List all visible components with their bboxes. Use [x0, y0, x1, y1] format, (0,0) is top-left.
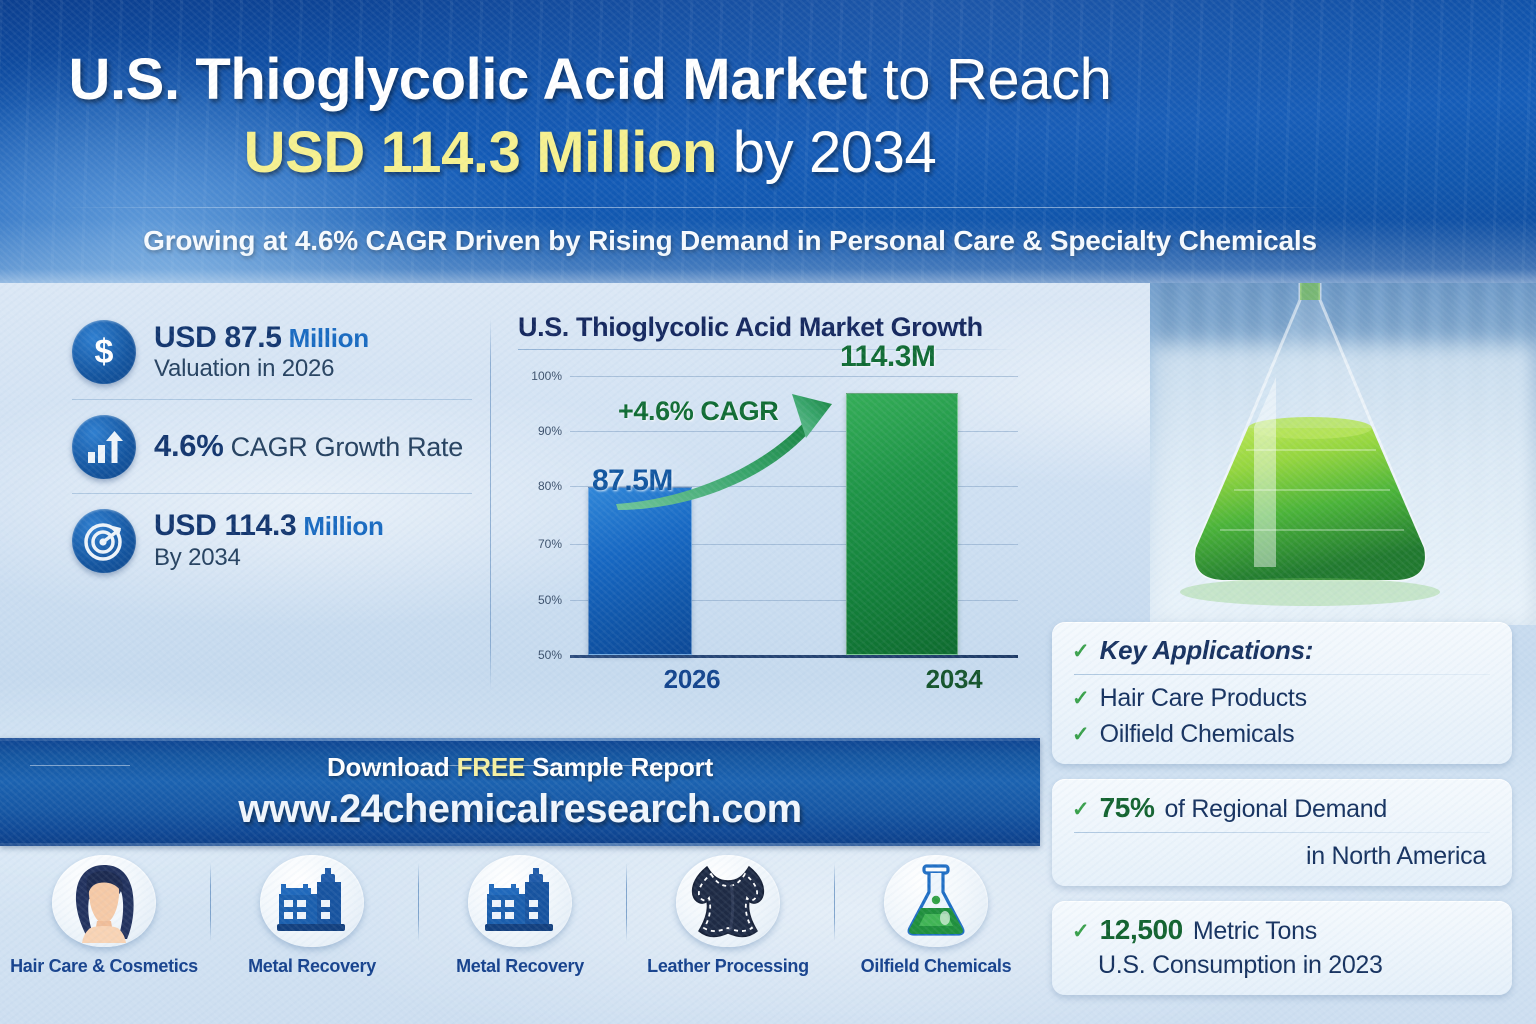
cagr-annotation: +4.6% CAGR [618, 396, 778, 427]
stat-value-unit: Million [282, 323, 369, 353]
flask-icon [901, 862, 971, 940]
target-dart-icon [72, 509, 136, 573]
website-url[interactable]: www.24chemicalresearch.com [0, 787, 1040, 832]
chart-plot-area: 100% 90% 80% 70% 50% 50% 87.5M 114.3M [518, 368, 1018, 658]
card-divider [1074, 832, 1490, 833]
x-tick-2034: 2034 [926, 664, 983, 695]
stat-value: USD 87.5 Million [154, 321, 369, 355]
check-icon: ✓ [1072, 921, 1090, 942]
y-tick-label: 90% [518, 424, 562, 438]
title-main: U.S. Thioglycolic Acid Market [68, 47, 866, 112]
woman-hair-icon [61, 859, 147, 943]
list-item: ✓ Hair Care Products [1072, 684, 1492, 713]
y-tick-label: 50% [518, 648, 562, 662]
dollar-coin-icon: $ [72, 320, 136, 384]
consumption-sub: U.S. Consumption in 2023 [1072, 951, 1492, 980]
y-tick-label: 80% [518, 479, 562, 493]
regional-demand-value: 75% [1100, 792, 1155, 824]
infographic-canvas: U.S. Thioglycolic Acid Market to Reach U… [0, 0, 1536, 1024]
stat-value: USD 114.3 Million [154, 509, 384, 543]
stat-text: 4.6% CAGR Growth Rate [154, 429, 463, 464]
page-subtitle: Growing at 4.6% CAGR Driven by Rising De… [0, 225, 1460, 257]
header-banner: U.S. Thioglycolic Acid Market to Reach U… [0, 0, 1536, 283]
consumption-value: 12,500 [1100, 914, 1183, 946]
y-tick-label: 50% [518, 593, 562, 607]
check-icon: ✓ [1072, 688, 1090, 709]
bar-value-label-2034: 114.3M [840, 340, 935, 374]
panel-divider [490, 318, 491, 690]
chart-title: U.S. Thioglycolic Acid Market Growth [518, 312, 1038, 343]
card-regional-demand: ✓ 75% of Regional Demand in North Americ… [1052, 779, 1512, 886]
page-title-line2: USD 114.3 Million by 2034 [0, 123, 1180, 184]
app-icon-oilfield[interactable]: Oilfield Chemicals [836, 855, 1036, 977]
card-key-applications: ✓ Key Applications: ✓ Hair Care Products… [1052, 622, 1512, 764]
cta-text: Download FREE Sample Report [0, 752, 1040, 783]
icon-blob [260, 855, 364, 947]
card-heading-row: ✓ 12,500 Metric Tons [1072, 914, 1492, 946]
stat-caption: By 2034 [154, 545, 384, 572]
app-icon-leather[interactable]: Leather Processing [628, 855, 828, 977]
cta-highlight: FREE [457, 752, 526, 782]
app-icon-label: Metal Recovery [456, 956, 584, 977]
stat-forecast-2034: USD 114.3 Million By 2034 [72, 493, 472, 587]
app-icon-hair-care[interactable]: Hair Care & Cosmetics [4, 855, 204, 977]
x-axis [570, 655, 1018, 658]
check-icon: ✓ [1072, 641, 1090, 662]
card-heading-row: ✓ 75% of Regional Demand [1072, 792, 1492, 824]
stat-value: 4.6% CAGR Growth Rate [154, 429, 463, 464]
title-year-suffix: by 2034 [717, 120, 936, 185]
icon-blob [884, 855, 988, 947]
title-suffix: to Reach [867, 47, 1112, 112]
card-heading-row: ✓ Key Applications: [1072, 635, 1492, 666]
card-divider [1074, 674, 1490, 675]
app-icon-metal-recovery-2[interactable]: Metal Recovery [420, 855, 620, 977]
x-tick-2026: 2026 [664, 664, 721, 695]
svg-text:$: $ [95, 333, 114, 371]
factory-icon [271, 864, 353, 938]
header-divider [60, 207, 1330, 208]
leather-hide-icon [687, 863, 769, 939]
title-highlight-value: USD 114.3 Million [244, 120, 717, 185]
application-icons-row: Hair Care & Cosmetics [0, 855, 1040, 1005]
factory-icon [479, 864, 561, 938]
stat-text: USD 87.5 Million Valuation in 2026 [154, 321, 369, 383]
stat-value-strong: 4.6% [154, 428, 223, 463]
chart-title-rule [518, 349, 1018, 350]
cta-pre: Download [327, 752, 457, 782]
flask-shadow [1180, 578, 1440, 606]
market-growth-chart: U.S. Thioglycolic Acid Market Growth 100… [518, 312, 1038, 707]
stat-value-strong: USD 87.5 [154, 321, 282, 354]
icon-blob [52, 855, 156, 947]
highlight-cards: ✓ Key Applications: ✓ Hair Care Products… [1052, 622, 1512, 1010]
regional-demand-label: of Regional Demand [1164, 795, 1387, 824]
stat-value-label: CAGR Growth Rate [223, 432, 462, 462]
app-icon-label: Oilfield Chemicals [861, 956, 1012, 977]
consumption-label: Metric Tons [1193, 917, 1317, 946]
check-icon: ✓ [1072, 724, 1090, 745]
icon-blob [676, 855, 780, 947]
application-label: Hair Care Products [1100, 684, 1307, 713]
stat-caption: Valuation in 2026 [154, 356, 369, 383]
y-tick-label: 70% [518, 537, 562, 551]
stat-cagr: 4.6% CAGR Growth Rate [72, 399, 472, 493]
cta-banner[interactable]: Download FREE Sample Report www.24chemic… [0, 738, 1040, 846]
stat-value-unit: Million [296, 511, 383, 541]
regional-demand-sub: in North America [1072, 842, 1492, 871]
stat-text: USD 114.3 Million By 2034 [154, 509, 384, 571]
list-item: ✓ Oilfield Chemicals [1072, 720, 1492, 749]
app-icon-label: Metal Recovery [248, 956, 376, 977]
x-axis-labels: 2026 2034 [570, 664, 1018, 698]
check-icon: ✓ [1072, 799, 1090, 820]
page-title-line1: U.S. Thioglycolic Acid Market to Reach [0, 50, 1180, 111]
y-tick-label: 100% [518, 369, 562, 383]
bar-growth-arrow-icon [72, 415, 136, 479]
card-heading: Key Applications: [1100, 635, 1314, 666]
application-label: Oilfield Chemicals [1100, 720, 1295, 749]
stat-value-strong: USD 114.3 [154, 509, 296, 542]
card-consumption: ✓ 12,500 Metric Tons U.S. Consumption in… [1052, 901, 1512, 995]
app-icon-label: Hair Care & Cosmetics [10, 956, 198, 977]
app-icon-label: Leather Processing [647, 956, 809, 977]
icon-blob [468, 855, 572, 947]
key-stats-list: $ USD 87.5 Million Valuation in 2026 4.6… [72, 305, 472, 587]
app-icon-metal-recovery-1[interactable]: Metal Recovery [212, 855, 412, 977]
stat-valuation-2026: $ USD 87.5 Million Valuation in 2026 [72, 305, 472, 399]
cta-post: Sample Report [525, 752, 713, 782]
